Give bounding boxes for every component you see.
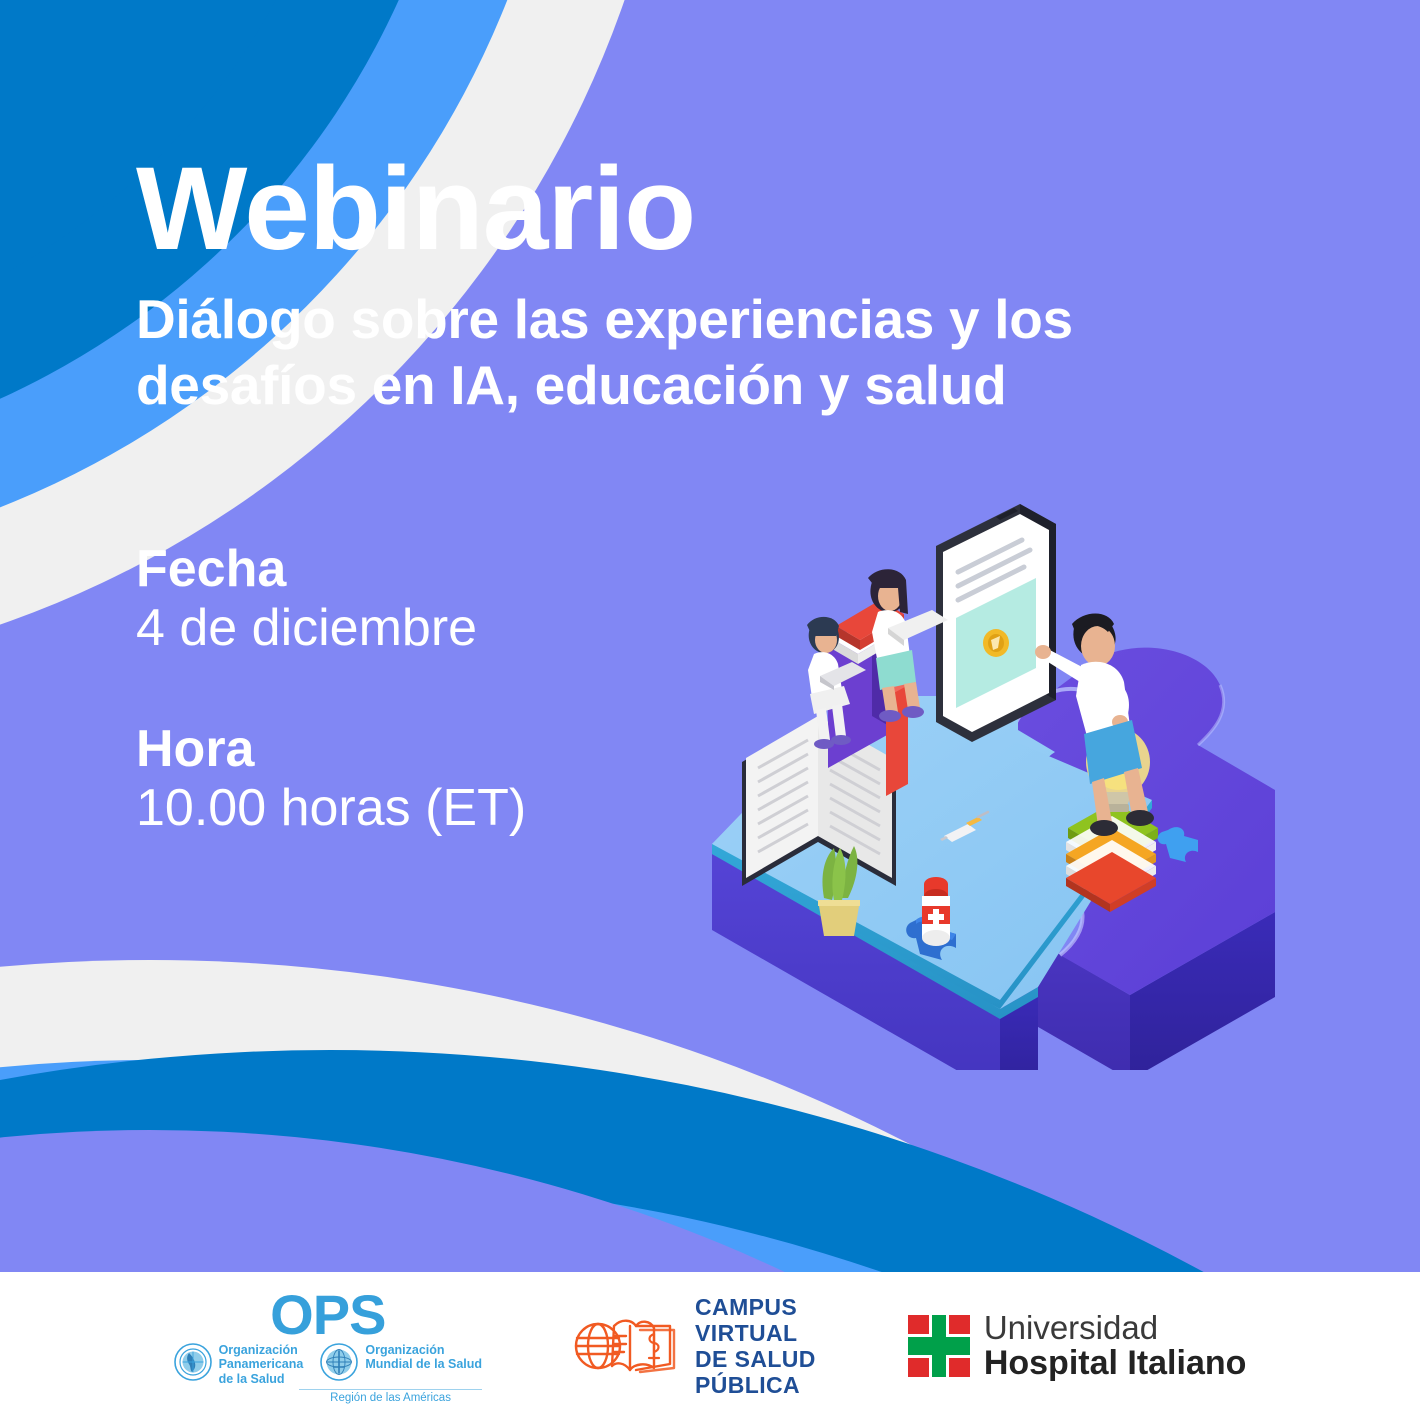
page-title: Webinario [136, 150, 1136, 268]
paho-name: Organización Panamericana de la Salud [219, 1343, 304, 1387]
detail-date: Fecha 4 de diciembre [136, 540, 526, 660]
detail-date-label: Fecha [136, 540, 526, 598]
illustration-puzzle-education-health [700, 500, 1280, 1070]
event-details: Fecha 4 de diciembre Hora 10.00 horas (E… [136, 540, 526, 899]
paho-seal-icon [174, 1343, 212, 1381]
medicine-bottle [922, 877, 950, 946]
campus-virtual-name: CAMPUS VIRTUAL DE SALUD PÚBLICA [695, 1294, 816, 1398]
who-seal-icon [320, 1343, 358, 1381]
headline-block: Webinario Diálogo sobre las experiencias… [136, 150, 1136, 418]
footer-logo-bar: OPS Organización Panamericana [0, 1272, 1420, 1420]
smartphone [936, 504, 1056, 742]
campus-virtual-logo: CAMPUS VIRTUAL DE SALUD PÚBLICA [574, 1294, 816, 1398]
ops-acronym: OPS [270, 1288, 385, 1341]
paho-ops-logo: OPS Organización Panamericana [174, 1288, 482, 1405]
detail-time-value: 10.00 horas (ET) [136, 778, 526, 839]
detail-time-label: Hora [136, 720, 526, 778]
hospital-cross-icon [908, 1315, 970, 1377]
page-subtitle: Diálogo sobre las experiencias y los des… [136, 286, 1136, 418]
paho-region-label: Región de las Américas [299, 1389, 482, 1404]
poster-canvas: Webinario Diálogo sobre las experiencias… [0, 0, 1420, 1420]
detail-time: Hora 10.00 horas (ET) [136, 720, 526, 840]
universidad-hospital-italiano-name: Universidad Hospital Italiano [984, 1310, 1247, 1382]
universidad-hospital-italiano-logo: Universidad Hospital Italiano [908, 1310, 1247, 1382]
who-name: Organización Mundial de la Salud [365, 1343, 482, 1372]
campus-globe-book-icon [574, 1310, 682, 1382]
detail-date-value: 4 de diciembre [136, 598, 526, 659]
